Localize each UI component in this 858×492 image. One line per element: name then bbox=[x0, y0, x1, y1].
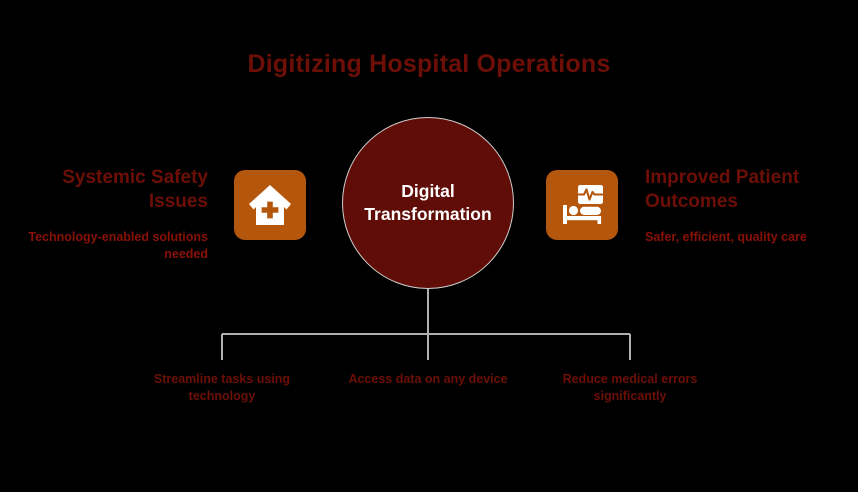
leaf-label-0: Streamline tasks using technology bbox=[122, 371, 322, 406]
leaf-label-1: Access data on any device bbox=[328, 371, 528, 388]
leaf-label-2: Reduce medical errors significantly bbox=[530, 371, 730, 406]
diagram-canvas: Digitizing Hospital Operations Systemic … bbox=[0, 0, 858, 492]
connector-tree bbox=[0, 0, 858, 492]
